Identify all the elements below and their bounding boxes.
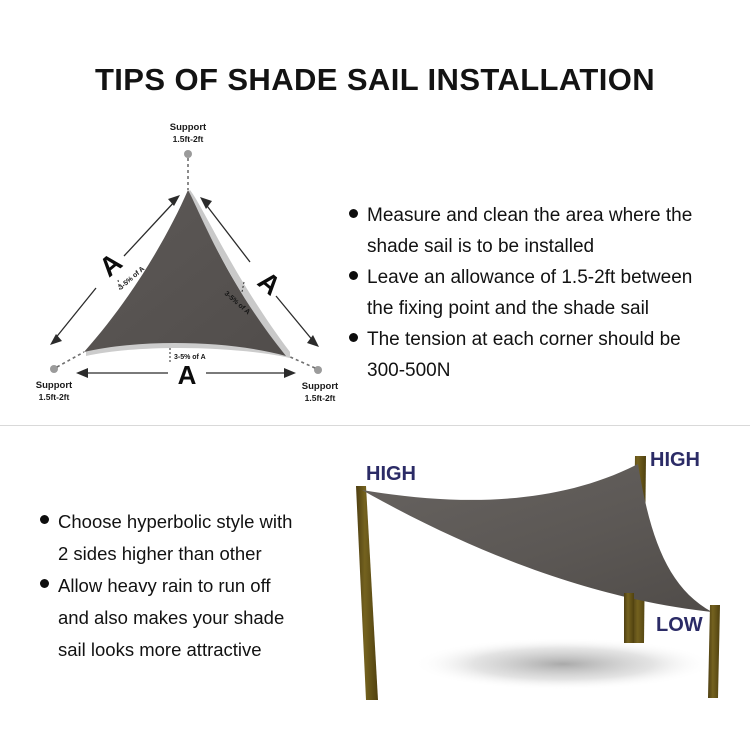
list-item: The tension at each corner should be 300… [349, 324, 739, 386]
list-item-text: Leave an allowance of 1.5-2ft between th… [367, 262, 739, 324]
list-item-line: 300-500N [367, 360, 450, 381]
section-divider [0, 425, 750, 426]
support-sublabel-top: 1.5ft-2ft [173, 134, 204, 144]
label-high-left: HIGH [366, 463, 416, 485]
label-high-right: HIGH [650, 449, 700, 471]
ground-shadow [413, 638, 713, 690]
support-label-bottom-left: Support [36, 380, 73, 391]
curve-label-bottom: 3-5% of A [174, 354, 206, 361]
dimension-letter-bottom: A [178, 360, 197, 390]
support-sublabel-bottom-right: 1.5ft-2ft [305, 393, 336, 403]
list-item-text: Measure and clean the area where the sha… [367, 200, 739, 262]
list-item: Measure and clean the area where the sha… [349, 200, 739, 262]
post-left-high [356, 486, 378, 700]
bullet-dot-icon [40, 515, 49, 524]
list-item-line: Choose hyperbolic style with [58, 511, 292, 532]
triangle-shade-sail-diagram: A 3-5% of A A 3-5% of A A 3-5% of A Supp… [28, 112, 358, 412]
anchor-dot-top [184, 150, 192, 158]
post-middle-low [624, 593, 634, 643]
bullet-dot-icon [40, 579, 49, 588]
list-item-text: Choose hyperbolic style with 2 sides hig… [58, 506, 350, 570]
bullet-dot-icon [349, 333, 358, 342]
list-item-text: Allow heavy rain to run off and also mak… [58, 570, 350, 666]
list-item: Choose hyperbolic style with 2 sides hig… [40, 506, 350, 570]
tether-line-bottom-left [57, 352, 84, 367]
dimension-letter-left: A [94, 247, 128, 283]
list-item-line: Leave an allowance of 1.5-2ft between [367, 267, 692, 288]
tether-line-bottom-right [288, 356, 315, 368]
post-right-low [708, 605, 720, 698]
list-item-line: and also makes your shade [58, 607, 284, 628]
list-item-line: sail looks more attractive [58, 639, 262, 660]
bullet-dot-icon [349, 271, 358, 280]
label-low: LOW [656, 614, 703, 636]
hyperbolic-shade-sail-diagram: HIGH HIGH LOW [338, 428, 750, 723]
support-label-top: Support [170, 122, 207, 133]
anchor-dot-bottom-right [314, 366, 322, 374]
list-item-text: The tension at each corner should be 300… [367, 324, 739, 386]
list-item-line: The tension at each corner should be [367, 329, 681, 350]
bullet-dot-icon [349, 209, 358, 218]
list-item-line: Allow heavy rain to run off [58, 575, 271, 596]
list-item-line: Measure and clean the area where the [367, 205, 692, 226]
support-label-bottom-right: Support [302, 381, 339, 392]
support-sublabel-bottom-left: 1.5ft-2ft [39, 392, 70, 402]
hyperbolic-style-tips-list: Choose hyperbolic style with 2 sides hig… [40, 506, 350, 666]
page-root: TIPS OF SHADE SAIL INSTALLATION A [0, 0, 750, 750]
list-item: Allow heavy rain to run off and also mak… [40, 570, 350, 666]
page-title: TIPS OF SHADE SAIL INSTALLATION [0, 62, 750, 98]
list-item-line: 2 sides higher than other [58, 543, 262, 564]
installation-tips-list: Measure and clean the area where the sha… [349, 200, 739, 386]
list-item-line: shade sail is to be installed [367, 236, 594, 257]
list-item: Leave an allowance of 1.5-2ft between th… [349, 262, 739, 324]
list-item-line: the fixing point and the shade sail [367, 298, 649, 319]
dimension-letter-right: A [252, 266, 286, 302]
sail-fabric [362, 464, 712, 612]
